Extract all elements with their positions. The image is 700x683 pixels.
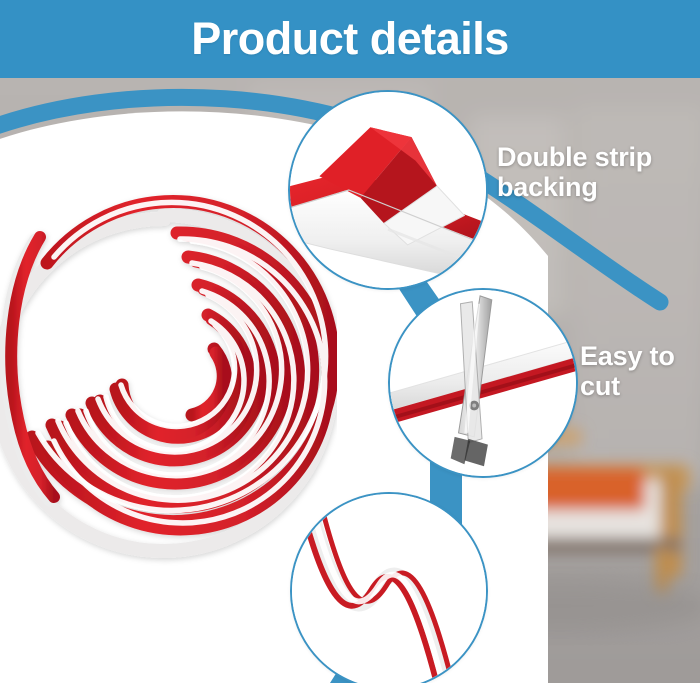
feature-label-double-strip: Double strip backing bbox=[497, 142, 652, 202]
callout-double-strip[interactable] bbox=[288, 90, 488, 290]
coil-spiral bbox=[0, 202, 333, 551]
callout-easy-cut[interactable] bbox=[388, 288, 578, 478]
easy-to-cut-illustration bbox=[390, 290, 576, 476]
coil-illustration bbox=[0, 175, 337, 595]
main-product-coil bbox=[0, 175, 337, 595]
easy-bending-illustration bbox=[292, 494, 486, 683]
page-title: Product details bbox=[191, 16, 509, 61]
double-strip-backing-illustration bbox=[290, 92, 486, 288]
header-banner: Product details bbox=[0, 0, 700, 78]
callout-easy-bend[interactable] bbox=[290, 492, 488, 683]
feature-label-easy-cut: Easy to cut bbox=[580, 341, 675, 401]
product-details-infographic: Product details Double strip backing Eas… bbox=[0, 0, 700, 683]
